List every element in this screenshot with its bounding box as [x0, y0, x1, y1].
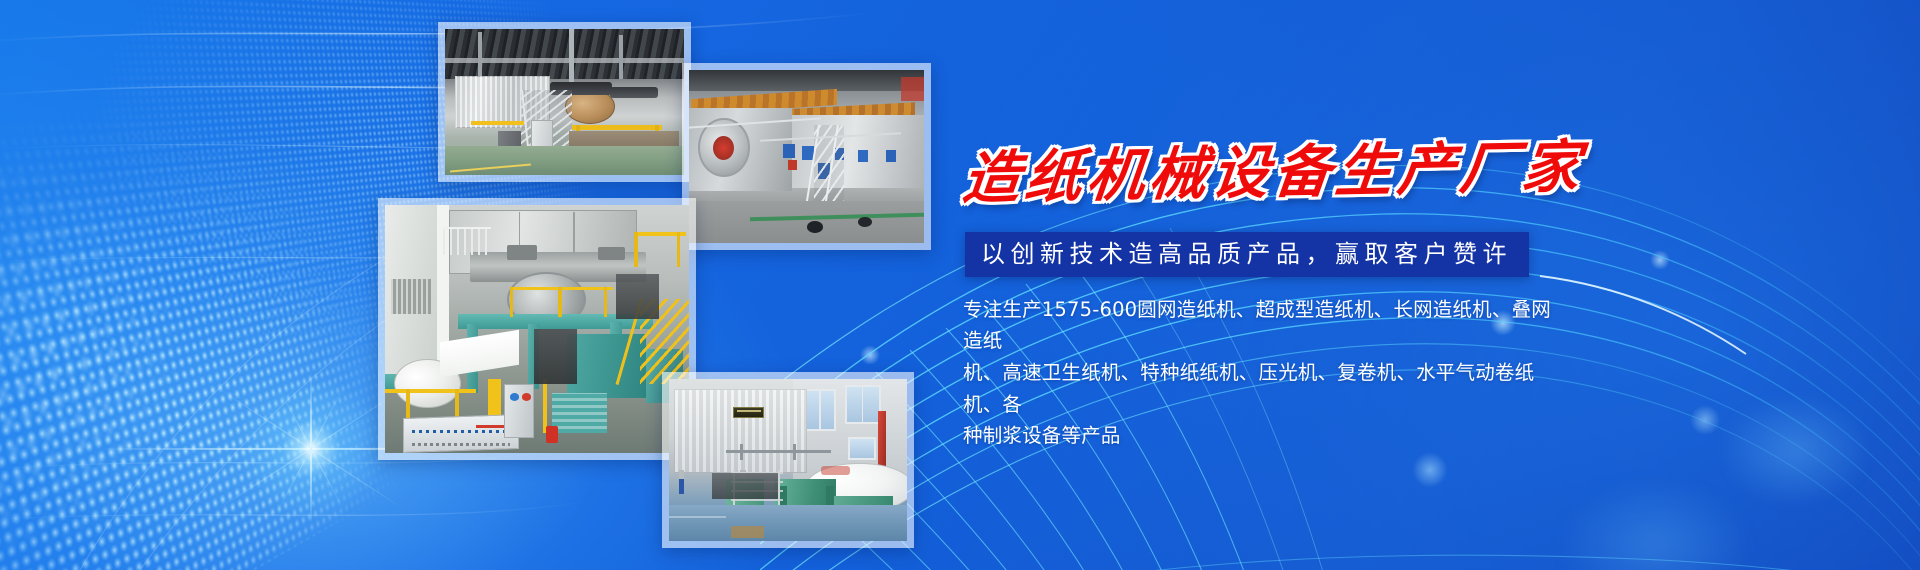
machine-shadow	[616, 274, 659, 319]
electrical-box	[886, 150, 895, 162]
guardrail-post	[406, 389, 410, 421]
bokeh-glow	[1560, 480, 1750, 570]
floor-fixture	[807, 221, 823, 233]
railing-post	[604, 287, 608, 317]
roof-column	[619, 35, 623, 79]
description-line: 专注生产1575-600圆网造纸机、超成型造纸机、长网造纸机、叠网造纸	[963, 294, 1561, 357]
photo-frame-dryer-reel[interactable]	[662, 372, 914, 548]
red-pipe	[878, 411, 885, 466]
white-railing	[443, 227, 492, 254]
roof-column	[478, 32, 482, 79]
machine-shadow	[712, 473, 779, 499]
yellow-guardrail	[385, 389, 476, 393]
fire-extinguisher	[546, 426, 558, 443]
cabinet-light	[510, 393, 519, 400]
window-mullion	[862, 385, 864, 424]
subtitle-badge: 以创新技术造高品质产品，赢取客户赞许	[965, 232, 1529, 277]
machine-shadow	[534, 329, 577, 384]
railing-post	[558, 287, 562, 317]
machine-nameplate	[733, 407, 764, 418]
floor-pallet	[731, 526, 764, 537]
lens-flare	[310, 448, 312, 450]
nameplate-text	[737, 410, 761, 412]
console-buttons	[412, 443, 509, 446]
floor-reflection	[669, 516, 726, 518]
pipe-drop	[740, 444, 743, 460]
electrical-box	[858, 150, 867, 162]
bokeh-glow	[1690, 405, 1720, 435]
electrical-box	[783, 144, 795, 158]
electrical-cabinet	[504, 384, 534, 439]
roll-label	[821, 466, 850, 474]
hood-sheen	[674, 389, 807, 473]
hood-fixture	[598, 247, 625, 259]
railing-post	[677, 232, 681, 267]
photo-frame-workshop-hall[interactable]	[438, 22, 691, 182]
lens-flare-core	[226, 364, 396, 534]
window	[848, 437, 877, 460]
description-block: 专注生产1575-600圆网造纸机、超成型造纸机、长网造纸机、叠网造纸 机、高速…	[963, 294, 1561, 452]
hood-fixture	[507, 245, 537, 260]
control-console	[403, 414, 519, 453]
teal-machine-body	[567, 334, 646, 398]
description-line: 机、高速卫生纸机、特种纸纸机、压光机、复卷机、水平气动卷纸机、各	[963, 357, 1561, 420]
photo-image-workshop-hall	[445, 29, 684, 175]
page-title: 造纸机械设备生产厂家	[960, 138, 1588, 210]
cylinder-hub	[713, 136, 734, 160]
mezzanine-railing	[391, 279, 431, 314]
hero-banner: 造纸机械设备生产厂家 以创新技术造高品质产品，赢取客户赞许 专注生产1575-6…	[0, 0, 1920, 570]
window-mullion	[819, 389, 821, 431]
photo-image-machine-line	[689, 70, 924, 243]
console-indicator	[476, 425, 503, 428]
teal-steps	[552, 393, 607, 433]
ceiling	[689, 70, 924, 91]
railing-post	[634, 232, 638, 267]
photo-frame-tissue-machine[interactable]	[378, 198, 696, 460]
yellow-guardrail	[471, 121, 524, 125]
bokeh-glow	[860, 345, 880, 365]
red-wall-panel	[901, 77, 925, 101]
railing-post	[510, 287, 514, 317]
description-line: 种制浆设备等产品	[963, 420, 1561, 452]
subtitle-text: 以创新技术造高品质产品，赢取客户赞许	[981, 239, 1512, 269]
photo-image-dryer-reel	[669, 379, 907, 541]
bokeh-glow	[1720, 395, 1870, 505]
roller	[610, 87, 658, 97]
yellow-guardrail	[572, 125, 663, 130]
console-buttons	[412, 430, 509, 433]
worker	[679, 479, 685, 494]
bokeh-glow	[1650, 250, 1670, 270]
red-control-box	[788, 160, 797, 170]
banner-copy: 造纸机械设备生产厂家 以创新技术造高品质产品，赢取客户赞许 专注生产1575-6…	[963, 150, 1583, 452]
step-railing	[543, 379, 547, 434]
pipe-drop	[793, 444, 796, 460]
bokeh-glow	[1412, 452, 1448, 488]
concrete-floor	[689, 201, 924, 243]
photo-frame-machine-line[interactable]	[682, 63, 931, 250]
roof-column	[569, 29, 574, 82]
cabinet-light	[522, 393, 531, 400]
epoxy-floor	[445, 146, 684, 175]
blue-epoxy-floor	[669, 505, 907, 541]
photo-image-tissue-machine	[385, 205, 689, 453]
yellow-post	[488, 379, 500, 419]
